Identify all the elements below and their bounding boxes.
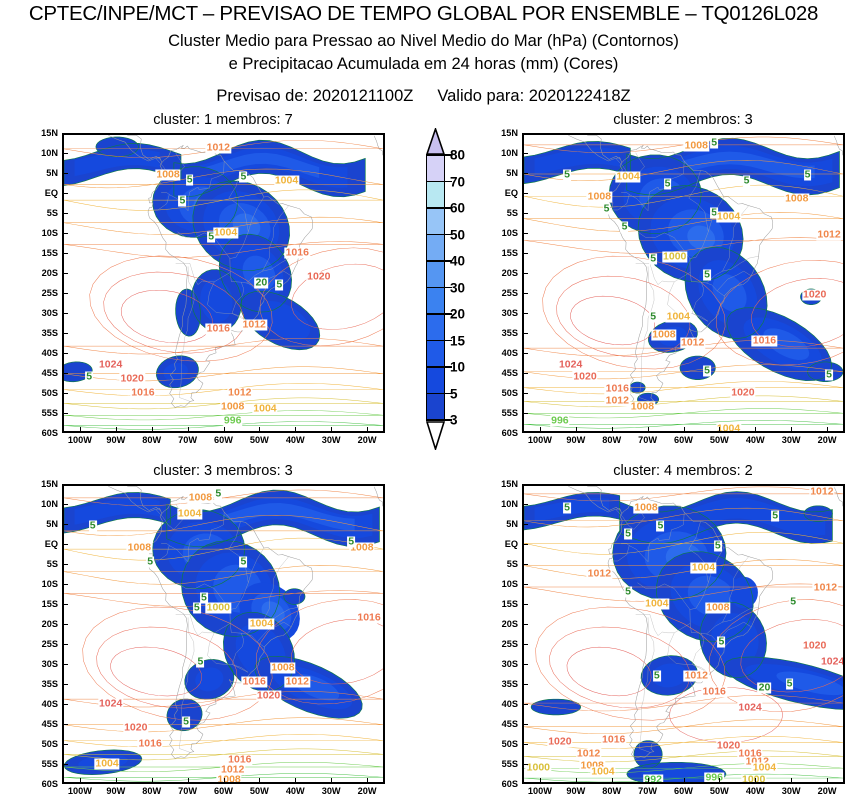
y-axis-tick-label: 40S xyxy=(26,699,58,709)
y-axis-tick-label: 15S xyxy=(486,599,518,609)
y-axis-tick-label: 55S xyxy=(26,759,58,769)
y-axis-tick-label: 15S xyxy=(26,248,58,258)
precip-level-label: 5 xyxy=(664,178,672,189)
panel-title-cluster-4: cluster: 4 membros: 2 xyxy=(523,463,843,479)
precip-level-label: 5 xyxy=(804,170,812,181)
forecast-time-line: Previsao de: 2020121100ZValido para: 202… xyxy=(0,87,847,106)
contour-label: 1020 xyxy=(306,272,331,283)
contour-label: 1016 xyxy=(752,336,777,347)
colorbar-tick-label: 20 xyxy=(450,307,465,322)
y-axis-tick-label: 20S xyxy=(26,268,58,278)
contour-label: 1016 xyxy=(605,384,630,395)
map-panel-cluster-1[interactable]: 1012100855100451004510161020205101610121… xyxy=(62,133,385,433)
y-axis-tick xyxy=(523,664,528,665)
contour-label: 1012 xyxy=(680,338,705,349)
precip-level-label: 5 xyxy=(214,489,222,500)
precip-level-label: 5 xyxy=(710,138,718,149)
contour-label: 1016 xyxy=(601,735,626,746)
x-axis-tick xyxy=(791,427,792,432)
precip-level-label: 5 xyxy=(656,521,664,532)
x-axis-tick-label: 80W xyxy=(602,435,621,445)
contour-label: 996 xyxy=(704,773,724,784)
x-axis-tick xyxy=(331,427,332,432)
contour-label: 1004 xyxy=(644,599,669,610)
x-axis-tick-label: 30W xyxy=(782,435,801,445)
y-axis-tick-label: 10N xyxy=(486,499,518,509)
map-panel-cluster-2[interactable]: 1008551004555100810085551004101251000510… xyxy=(522,133,845,433)
precip-level-label: 5 xyxy=(186,174,194,185)
colorbar-divider xyxy=(426,181,445,183)
y-axis-tick xyxy=(63,193,68,194)
map-canvas-cluster-1 xyxy=(64,135,383,431)
colorbar-band[interactable] xyxy=(426,182,445,209)
y-axis-tick xyxy=(63,724,68,725)
contour-label: 1024 xyxy=(820,657,845,668)
contour-label: 1024 xyxy=(737,703,762,714)
y-axis-tick-label: 10N xyxy=(26,148,58,158)
x-axis-tick-label: 30W xyxy=(322,786,341,796)
y-axis-tick xyxy=(523,544,528,545)
colorbar-band[interactable] xyxy=(426,314,445,341)
y-axis-tick xyxy=(523,393,528,394)
contour-label: 1008 xyxy=(633,503,658,514)
precip-level-label: 5 xyxy=(624,529,632,540)
y-axis-tick-label: 15N xyxy=(26,479,58,489)
x-axis-tick xyxy=(116,427,117,432)
x-axis-tick xyxy=(188,427,189,432)
y-axis-tick xyxy=(63,153,68,154)
map-panel-cluster-3[interactable]: 1008551004100810085555510001004101651008… xyxy=(62,484,385,784)
y-axis-tick-label: 5S xyxy=(26,208,58,218)
panel-title-cluster-2: cluster: 2 membros: 3 xyxy=(523,112,843,128)
y-axis-tick xyxy=(63,684,68,685)
y-axis-tick xyxy=(523,524,528,525)
x-axis-tick-label: 100W xyxy=(68,786,92,796)
x-axis-tick xyxy=(152,778,153,783)
colorbar-band[interactable] xyxy=(426,394,445,421)
y-axis-tick-label: 5N xyxy=(26,519,58,529)
contour-label: 1012 xyxy=(813,583,838,594)
x-axis-tick-label: 20W xyxy=(818,435,837,445)
precip-level-label: 5 xyxy=(207,232,215,243)
x-axis-tick-label: 70W xyxy=(638,786,657,796)
precip-level-label: 5 xyxy=(563,170,571,181)
precip-level-label: 5 xyxy=(146,557,154,568)
colorbar-over-arrow xyxy=(426,128,445,155)
x-axis-tick xyxy=(540,778,541,783)
y-axis-tick xyxy=(63,744,68,745)
y-axis-tick-label: 30S xyxy=(486,659,518,669)
y-axis-tick xyxy=(523,684,528,685)
x-axis-tick xyxy=(576,778,577,783)
contour-label: 1004 xyxy=(252,404,277,415)
y-axis-tick xyxy=(63,353,68,354)
y-axis-tick xyxy=(63,604,68,605)
y-axis-tick xyxy=(523,173,528,174)
x-axis-tick xyxy=(648,778,649,783)
x-axis-tick-label: 90W xyxy=(566,435,585,445)
contour-label: 1008 xyxy=(270,663,295,674)
y-axis-tick xyxy=(63,624,68,625)
precip-level-label: 5 xyxy=(347,537,355,548)
precip-level-label: 5 xyxy=(714,541,722,552)
contour-label: 1020 xyxy=(730,388,755,399)
y-axis-tick xyxy=(63,373,68,374)
y-axis-tick-label: EQ xyxy=(26,539,58,549)
y-axis-tick-label: 5S xyxy=(26,559,58,569)
x-axis-tick-label: 20W xyxy=(358,786,377,796)
y-axis-tick-label: 45S xyxy=(26,719,58,729)
precip-level-label: 5 xyxy=(193,603,201,614)
colorbar-divider xyxy=(426,340,445,342)
x-axis-tick-label: 60W xyxy=(674,786,693,796)
colorbar-tick-label: 3 xyxy=(450,413,458,428)
precip-level-label: 5 xyxy=(743,176,751,187)
y-axis-tick xyxy=(63,393,68,394)
colorbar-band[interactable] xyxy=(426,235,445,262)
y-axis-tick-label: 20S xyxy=(486,619,518,629)
y-axis-tick xyxy=(63,664,68,665)
x-axis-tick xyxy=(295,778,296,783)
x-axis-tick-label: 60W xyxy=(674,435,693,445)
precip-level-label: 5 xyxy=(563,503,571,514)
colorbar-tick-label: 30 xyxy=(450,280,465,295)
colorbar-band[interactable] xyxy=(426,261,445,288)
colorbar-band[interactable] xyxy=(426,367,445,394)
colorbar-divider xyxy=(426,234,445,236)
y-axis-tick xyxy=(523,413,528,414)
y-axis-tick xyxy=(523,724,528,725)
contour-label: 1020 xyxy=(802,641,827,652)
contour-label: 1000 xyxy=(662,252,687,263)
contour-label: 1008 xyxy=(587,192,612,203)
precip-level-label: 5 xyxy=(703,270,711,281)
y-axis-tick-label: 15N xyxy=(26,128,58,138)
y-axis-tick xyxy=(63,524,68,525)
x-axis-tick xyxy=(827,427,828,432)
x-axis-tick xyxy=(367,778,368,783)
y-axis-tick-label: 35S xyxy=(26,679,58,689)
precip-level-label: 5 xyxy=(89,521,97,532)
y-axis-tick-label: 60S xyxy=(26,428,58,438)
subtitle-line-2: e Precipitacao Acumulada em 24 horas (mm… xyxy=(0,55,847,74)
x-axis-tick-label: 70W xyxy=(638,435,657,445)
contour-label: 1012 xyxy=(242,320,267,331)
y-axis-tick xyxy=(63,413,68,414)
contour-label: 1004 xyxy=(94,759,119,770)
x-axis-tick xyxy=(224,427,225,432)
forecast-valid-label: Valido para: 2020122418Z xyxy=(437,87,630,105)
y-axis-tick-label: 15S xyxy=(26,599,58,609)
colorbar-divider xyxy=(426,260,445,262)
x-axis-tick-label: 40W xyxy=(746,435,765,445)
panel-title-cluster-1: cluster: 1 membros: 7 xyxy=(63,112,383,128)
contour-label: 1020 xyxy=(120,374,145,385)
contour-label: 1008 xyxy=(216,775,241,785)
x-axis-tick xyxy=(295,427,296,432)
x-axis-tick-label: 60W xyxy=(214,435,233,445)
y-axis-tick xyxy=(523,193,528,194)
y-axis-tick xyxy=(523,313,528,314)
contour-label: 1024 xyxy=(558,360,583,371)
y-axis-tick xyxy=(63,233,68,234)
contour-label: 992 xyxy=(643,775,663,785)
y-axis-tick-label: 15N xyxy=(486,479,518,489)
x-axis-tick-label: 20W xyxy=(818,786,837,796)
x-axis-tick xyxy=(827,778,828,783)
y-axis-tick xyxy=(523,253,528,254)
contour-label: 1020 xyxy=(256,691,281,702)
precipitation-colorbar[interactable]: 35101520304050607080 xyxy=(426,128,496,453)
map-panel-cluster-4[interactable]: 1012510085555100410121012551004100810205… xyxy=(522,484,845,784)
x-axis-tick-label: 40W xyxy=(286,786,305,796)
y-axis-tick xyxy=(523,704,528,705)
precip-level-label: 5 xyxy=(717,637,725,648)
y-axis-tick xyxy=(523,644,528,645)
y-axis-tick-label: 30S xyxy=(26,308,58,318)
precip-level-label: 5 xyxy=(649,312,657,323)
contour-label: 996 xyxy=(223,416,243,427)
y-axis-tick-label: 10S xyxy=(26,579,58,589)
colorbar-divider xyxy=(426,313,445,315)
precip-level-label: 5 xyxy=(240,172,248,183)
precip-level-label: 5 xyxy=(825,370,833,381)
subtitle-line-1: Cluster Medio para Pressao ao Nivel Medi… xyxy=(0,32,847,51)
colorbar-divider xyxy=(426,393,445,395)
contour-label: 1008 xyxy=(155,170,180,181)
precip-level-label: 5 xyxy=(182,717,190,728)
y-axis-tick-label: 5S xyxy=(486,559,518,569)
contour-label: 1012 xyxy=(285,677,310,688)
x-axis-tick xyxy=(684,427,685,432)
contour-label: 1012 xyxy=(587,569,612,580)
contour-label: 1012 xyxy=(227,388,252,399)
contour-label: 1004 xyxy=(177,509,202,520)
x-axis-tick xyxy=(576,427,577,432)
contour-label: 1008 xyxy=(705,603,730,614)
y-axis-tick-label: 45S xyxy=(486,719,518,729)
y-axis-tick xyxy=(63,293,68,294)
y-axis-tick-label: 35S xyxy=(26,328,58,338)
y-axis-tick-label: 50S xyxy=(26,388,58,398)
x-axis-tick xyxy=(80,427,81,432)
y-axis-tick-label: EQ xyxy=(26,188,58,198)
x-axis-tick xyxy=(188,778,189,783)
y-axis-tick-label: 50S xyxy=(486,739,518,749)
contour-label: 1020 xyxy=(547,737,572,748)
y-axis-tick xyxy=(63,273,68,274)
y-axis-tick xyxy=(63,213,68,214)
x-axis-tick-label: 20W xyxy=(358,435,377,445)
colorbar-tick-label: 60 xyxy=(450,201,465,216)
colorbar-tick-label: 10 xyxy=(450,360,465,375)
x-axis-tick-label: 70W xyxy=(178,786,197,796)
y-axis-tick xyxy=(63,644,68,645)
contour-label: 1016 xyxy=(285,248,310,259)
y-axis-tick xyxy=(63,253,68,254)
contour-label: 1000 xyxy=(741,775,766,785)
x-axis-tick xyxy=(755,778,756,783)
contour-label: 1012 xyxy=(816,230,841,241)
x-axis-tick xyxy=(755,427,756,432)
y-axis-tick-label: 10S xyxy=(26,228,58,238)
contour-label: 1008 xyxy=(127,543,152,554)
y-axis-tick-label: 25S xyxy=(486,639,518,649)
y-axis-tick xyxy=(523,373,528,374)
x-axis-tick xyxy=(116,778,117,783)
precip-level-label: 5 xyxy=(85,372,93,383)
contour-label: 1004 xyxy=(666,312,691,323)
contour-label: 1008 xyxy=(220,402,245,413)
x-axis-tick-label: 50W xyxy=(710,786,729,796)
y-axis-tick xyxy=(523,744,528,745)
precip-level-label: 20 xyxy=(758,683,772,694)
precip-level-label: 5 xyxy=(621,222,629,233)
contour-label: 1020 xyxy=(802,290,827,301)
y-axis-tick xyxy=(63,544,68,545)
contour-label: 1012 xyxy=(605,396,630,407)
contour-label: 1016 xyxy=(130,388,155,399)
precip-level-label: 5 xyxy=(789,597,797,608)
map-canvas-cluster-2 xyxy=(524,135,843,431)
colorbar-top-line xyxy=(426,154,445,156)
x-axis-tick xyxy=(224,778,225,783)
forecast-init-label: Previsao de: 2020121100Z xyxy=(216,87,413,105)
contour-label: 1008 xyxy=(188,493,213,504)
y-axis-tick xyxy=(523,764,528,765)
x-axis-tick xyxy=(719,778,720,783)
contour-label: 1012 xyxy=(206,142,231,153)
contour-label: 1008 xyxy=(651,330,676,341)
colorbar-under-arrow xyxy=(426,420,445,450)
contour-label: 1012 xyxy=(809,487,834,498)
x-axis-tick-label: 30W xyxy=(322,435,341,445)
colorbar-band[interactable] xyxy=(426,341,445,368)
contour-label: 1016 xyxy=(137,739,162,750)
colorbar-tick-label: 15 xyxy=(450,333,465,348)
y-axis-tick xyxy=(63,504,68,505)
x-axis-tick xyxy=(612,427,613,432)
contour-label: 996 xyxy=(550,416,570,427)
x-axis-tick-label: 50W xyxy=(710,435,729,445)
y-axis-tick-label: 20S xyxy=(26,619,58,629)
colorbar-band[interactable] xyxy=(426,208,445,235)
y-axis-tick xyxy=(523,624,528,625)
x-axis-tick-label: 50W xyxy=(250,435,269,445)
precip-level-label: 5 xyxy=(624,587,632,598)
x-axis-tick xyxy=(648,427,649,432)
x-axis-tick xyxy=(80,778,81,783)
colorbar-band[interactable] xyxy=(426,155,445,182)
colorbar-tick-label: 50 xyxy=(450,227,465,242)
contour-label: 1016 xyxy=(702,687,727,698)
y-axis-tick-label: 40S xyxy=(26,348,58,358)
x-axis-tick-label: 100W xyxy=(528,786,552,796)
contour-label: 1012 xyxy=(684,671,709,682)
precip-level-label: 5 xyxy=(649,254,657,265)
contour-label: 1016 xyxy=(206,324,231,335)
y-axis-tick-label: 60S xyxy=(26,779,58,789)
x-axis-tick xyxy=(259,778,260,783)
x-axis-tick xyxy=(791,778,792,783)
contour-label: 1004 xyxy=(213,228,238,239)
colorbar-band[interactable] xyxy=(426,288,445,315)
x-axis-tick-label: 50W xyxy=(250,786,269,796)
contour-label: 1004 xyxy=(249,619,274,630)
x-axis-tick-label: 80W xyxy=(142,786,161,796)
y-axis-tick xyxy=(63,764,68,765)
precip-level-label: 5 xyxy=(275,280,283,291)
contour-label: 1004 xyxy=(615,172,640,183)
y-axis-tick xyxy=(523,233,528,234)
y-axis-tick-label: EQ xyxy=(486,539,518,549)
colorbar-tick-label: 80 xyxy=(450,148,465,163)
y-axis-tick xyxy=(523,584,528,585)
contour-label: 1004 xyxy=(752,763,777,774)
y-axis-tick xyxy=(523,564,528,565)
y-axis-tick-label: 5N xyxy=(26,168,58,178)
contour-label: 1020 xyxy=(572,372,597,383)
contour-label: 1004 xyxy=(590,767,615,778)
colorbar-divider xyxy=(426,366,445,368)
panel-title-cluster-3: cluster: 3 membros: 3 xyxy=(63,463,383,479)
x-axis-tick-label: 60W xyxy=(214,786,233,796)
x-axis-tick-label: 70W xyxy=(178,435,197,445)
y-axis-tick-label: 55S xyxy=(26,408,58,418)
colorbar-tick-label: 40 xyxy=(450,254,465,269)
contour-label: 1000 xyxy=(526,763,551,774)
y-axis-tick xyxy=(63,704,68,705)
y-axis-tick-label: 40S xyxy=(486,699,518,709)
x-axis-tick xyxy=(152,427,153,432)
precip-level-label: 5 xyxy=(653,671,661,682)
y-axis-tick-label: 55S xyxy=(486,759,518,769)
contour-label: 1004 xyxy=(691,563,716,574)
x-axis-tick-label: 100W xyxy=(68,435,92,445)
contour-label: 1004 xyxy=(274,176,299,187)
x-axis-tick xyxy=(612,778,613,783)
y-axis-tick xyxy=(523,293,528,294)
precip-level-label: 5 xyxy=(603,204,611,215)
contour-label: 1008 xyxy=(784,194,809,205)
x-axis-tick xyxy=(331,778,332,783)
precip-level-label: 5 xyxy=(703,366,711,377)
colorbar-divider xyxy=(426,207,445,209)
precip-level-label: 5 xyxy=(196,657,204,668)
contour-label: 1024 xyxy=(98,360,123,371)
contour-label: 1016 xyxy=(242,677,267,688)
y-axis-tick-label: 10N xyxy=(26,499,58,509)
contour-label: 1016 xyxy=(356,613,381,624)
x-axis-tick xyxy=(367,427,368,432)
y-axis-tick xyxy=(523,153,528,154)
x-axis-tick-label: 80W xyxy=(142,435,161,445)
x-axis-tick-label: 90W xyxy=(106,435,125,445)
precip-level-label: 5 xyxy=(786,679,794,690)
contour-label: 1000 xyxy=(206,603,231,614)
x-axis-tick xyxy=(259,427,260,432)
precip-level-label: 5 xyxy=(179,196,187,207)
colorbar-divider xyxy=(426,287,445,289)
contour-label: 1008 xyxy=(630,402,655,413)
y-axis-tick xyxy=(523,353,528,354)
y-axis-tick xyxy=(523,504,528,505)
y-axis-tick-label: 45S xyxy=(26,368,58,378)
x-axis-tick xyxy=(540,427,541,432)
y-axis-tick xyxy=(63,564,68,565)
x-axis-tick-label: 80W xyxy=(602,786,621,796)
precip-level-label: 20 xyxy=(255,278,269,289)
